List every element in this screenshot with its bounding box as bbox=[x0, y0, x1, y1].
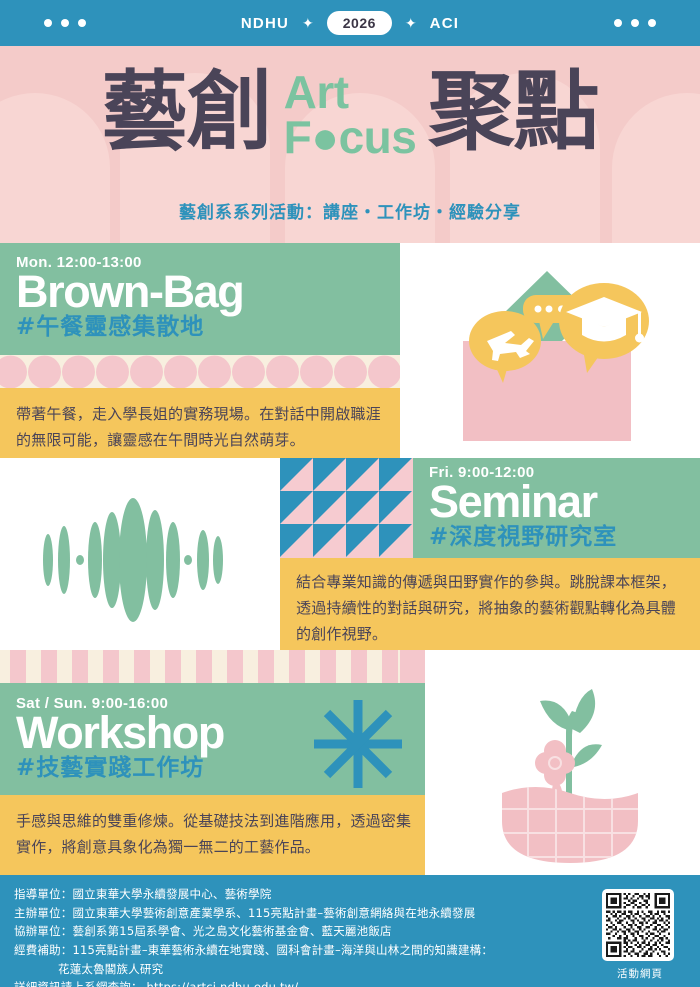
stripe-band-edge bbox=[400, 650, 425, 683]
footer-line: 花蓮太魯閣族人研究 bbox=[14, 960, 574, 979]
dot-icon bbox=[44, 19, 52, 27]
stripe-shape bbox=[41, 650, 57, 683]
poster-header: 藝創 Art F●cus 聚點 藝創系系列活動：講座・工作坊・經驗分享 bbox=[0, 46, 700, 243]
triangle-shape bbox=[313, 458, 346, 491]
event-card-brown-bag: Mon. 12:00-13:00 Brown-Bag #午餐靈感集散地 bbox=[0, 243, 400, 355]
illustration-plant-panel bbox=[425, 683, 700, 875]
dot-shape bbox=[0, 355, 27, 388]
qr-code-image[interactable] bbox=[602, 889, 674, 961]
poster-root: NDHU ✦ 2026 ✦ ACI 藝創 Art F●cus 聚點 bbox=[0, 0, 700, 987]
event-description-text: 結合專業知識的傳遞與田野實作的參與。跳脫課本框架，透過持續性的對話與研究，將抽象… bbox=[296, 570, 688, 647]
envelope-icon bbox=[435, 253, 675, 453]
stripe-shape bbox=[103, 650, 119, 683]
stripe-shape bbox=[227, 650, 243, 683]
event-title: Brown-Bag bbox=[16, 269, 243, 315]
qr-code-svg bbox=[606, 893, 670, 957]
stripe-shape bbox=[134, 650, 150, 683]
event-description-text: 帶著午餐，走入學長姐的實務現場。在對話中開啟職涯的無限可能，讓靈感在午間時光自然… bbox=[16, 402, 386, 454]
triangle-shape bbox=[346, 458, 379, 491]
triangle-shape bbox=[313, 524, 346, 557]
footer-website-line[interactable]: 詳細資訊請上系網查詢： https://artci.ndhu.edu.tw/ bbox=[14, 978, 574, 987]
page-subtitle: 藝創系系列活動：講座・工作坊・經驗分享 bbox=[0, 198, 700, 223]
illustration-envelope-panel bbox=[400, 243, 700, 458]
title-cjk-left: 藝創 bbox=[102, 67, 272, 157]
event-hashtag: #技藝實踐工作坊 bbox=[16, 755, 224, 781]
focus-o-dot: ● bbox=[311, 115, 338, 160]
stripe-shape bbox=[258, 650, 274, 683]
dot-shape bbox=[266, 355, 299, 388]
stripe-shape bbox=[165, 650, 181, 683]
dot-icon bbox=[648, 19, 656, 27]
event-title: Workshop bbox=[16, 710, 224, 756]
top-bar: NDHU ✦ 2026 ✦ ACI bbox=[0, 0, 700, 46]
footer-line: 協辦單位：藝創系第15屆系學會、光之島文化藝術基金會、藍天麗池飯店 bbox=[14, 922, 574, 941]
page-title: 藝創 Art F●cus 聚點 bbox=[0, 64, 700, 160]
dot-shape bbox=[130, 355, 163, 388]
dot-shape bbox=[232, 355, 265, 388]
stripe-shape bbox=[289, 650, 305, 683]
stripe-shape bbox=[382, 650, 398, 683]
event-card-workshop: Sat / Sun. 9:00-16:00 Workshop #技藝實踐工作坊 bbox=[0, 683, 425, 795]
triangle-shape bbox=[379, 491, 412, 524]
dot-icon bbox=[631, 19, 639, 27]
triangle-shape bbox=[280, 524, 313, 557]
event-description-text: 手感與思維的雙重修煉。從基礎技法到進階應用，透過密集實作，將創意具象化為獨一無二… bbox=[16, 809, 412, 861]
triangle-shape bbox=[280, 491, 313, 524]
dot-shape bbox=[334, 355, 367, 388]
sparkle-icon: ✦ bbox=[302, 16, 314, 30]
dot-shape bbox=[62, 355, 95, 388]
event-description-workshop: 手感與思維的雙重修煉。從基礎技法到進階應用，透過密集實作，將創意具象化為獨一無二… bbox=[0, 795, 425, 875]
top-bar-right-label: ACI bbox=[430, 15, 459, 32]
triangle-shape bbox=[379, 458, 412, 491]
title-cjk-right: 聚點 bbox=[428, 67, 598, 157]
event-hashtag: #深度視野研究室 bbox=[429, 524, 617, 550]
title-en-line2: F●cus bbox=[284, 115, 417, 160]
stripe-pattern-band bbox=[0, 650, 400, 683]
sound-wave-icon bbox=[40, 480, 240, 640]
triangle-shape bbox=[280, 458, 313, 491]
title-en-line1: Art bbox=[284, 70, 417, 115]
footer-credits: 指導單位：國立東華大學永續發展中心、藝術學院 主辦單位：國立東華大學藝術創意產業… bbox=[14, 885, 574, 987]
event-description-brown-bag: 帶著午餐，走入學長姐的實務現場。在對話中開啟職涯的無限可能，讓靈感在午間時光自然… bbox=[0, 388, 400, 458]
dot-shape bbox=[164, 355, 197, 388]
footer-line: 指導單位：國立東華大學永續發展中心、藝術學院 bbox=[14, 885, 574, 904]
top-bar-dots-right bbox=[614, 19, 656, 27]
dot-shape bbox=[198, 355, 231, 388]
stripe-shape bbox=[320, 650, 336, 683]
dot-shape bbox=[300, 355, 333, 388]
triangle-pattern-block bbox=[280, 458, 413, 558]
stripe-shape bbox=[196, 650, 212, 683]
triangle-shape bbox=[346, 491, 379, 524]
dot-shape bbox=[28, 355, 61, 388]
top-bar-dots-left bbox=[44, 19, 86, 27]
dot-shape bbox=[368, 355, 400, 388]
dot-icon bbox=[614, 19, 622, 27]
stripe-shape bbox=[10, 650, 26, 683]
poster-footer: 指導單位：國立東華大學永續發展中心、藝術學院 主辦單位：國立東華大學藝術創意產業… bbox=[0, 875, 700, 987]
qr-code-block[interactable]: 活動網頁 bbox=[602, 889, 678, 981]
footer-line: 主辦單位：國立東華大學藝術創意產業學系、115亮點計畫–藝術創意網絡與在地永續發… bbox=[14, 904, 574, 923]
dot-pattern-band bbox=[0, 355, 400, 388]
triangle-shape bbox=[379, 524, 412, 557]
year-badge: 2026 bbox=[327, 11, 392, 35]
triangle-shape bbox=[346, 524, 379, 557]
illustration-soundwave-panel bbox=[0, 458, 280, 663]
footer-line: 經費補助：115亮點計畫–東華藝術永續在地實踐、國科會計畫–海洋與山林之間的知識… bbox=[14, 941, 574, 960]
sparkle-icon: ✦ bbox=[405, 16, 417, 30]
dot-icon bbox=[61, 19, 69, 27]
triangle-shape bbox=[313, 491, 346, 524]
stripe-shape bbox=[72, 650, 88, 683]
event-hashtag: #午餐靈感集散地 bbox=[16, 314, 243, 340]
top-bar-center: NDHU ✦ 2026 ✦ ACI bbox=[241, 11, 459, 35]
potted-plant-icon bbox=[480, 671, 660, 871]
asterisk-star-icon bbox=[310, 696, 406, 792]
event-title: Seminar bbox=[429, 479, 617, 525]
event-description-seminar: 結合專業知識的傳遞與田野實作的參與。跳脫課本框架，透過持續性的對話與研究，將抽象… bbox=[280, 558, 700, 650]
event-card-seminar: Fri. 9:00-12:00 Seminar #深度視野研究室 bbox=[413, 458, 700, 558]
top-bar-left-label: NDHU bbox=[241, 15, 289, 32]
qr-code-caption: 活動網頁 bbox=[602, 966, 678, 981]
stripe-shape bbox=[351, 650, 367, 683]
title-en-stack: Art F●cus bbox=[284, 64, 417, 160]
dot-shape bbox=[96, 355, 129, 388]
dot-icon bbox=[78, 19, 86, 27]
